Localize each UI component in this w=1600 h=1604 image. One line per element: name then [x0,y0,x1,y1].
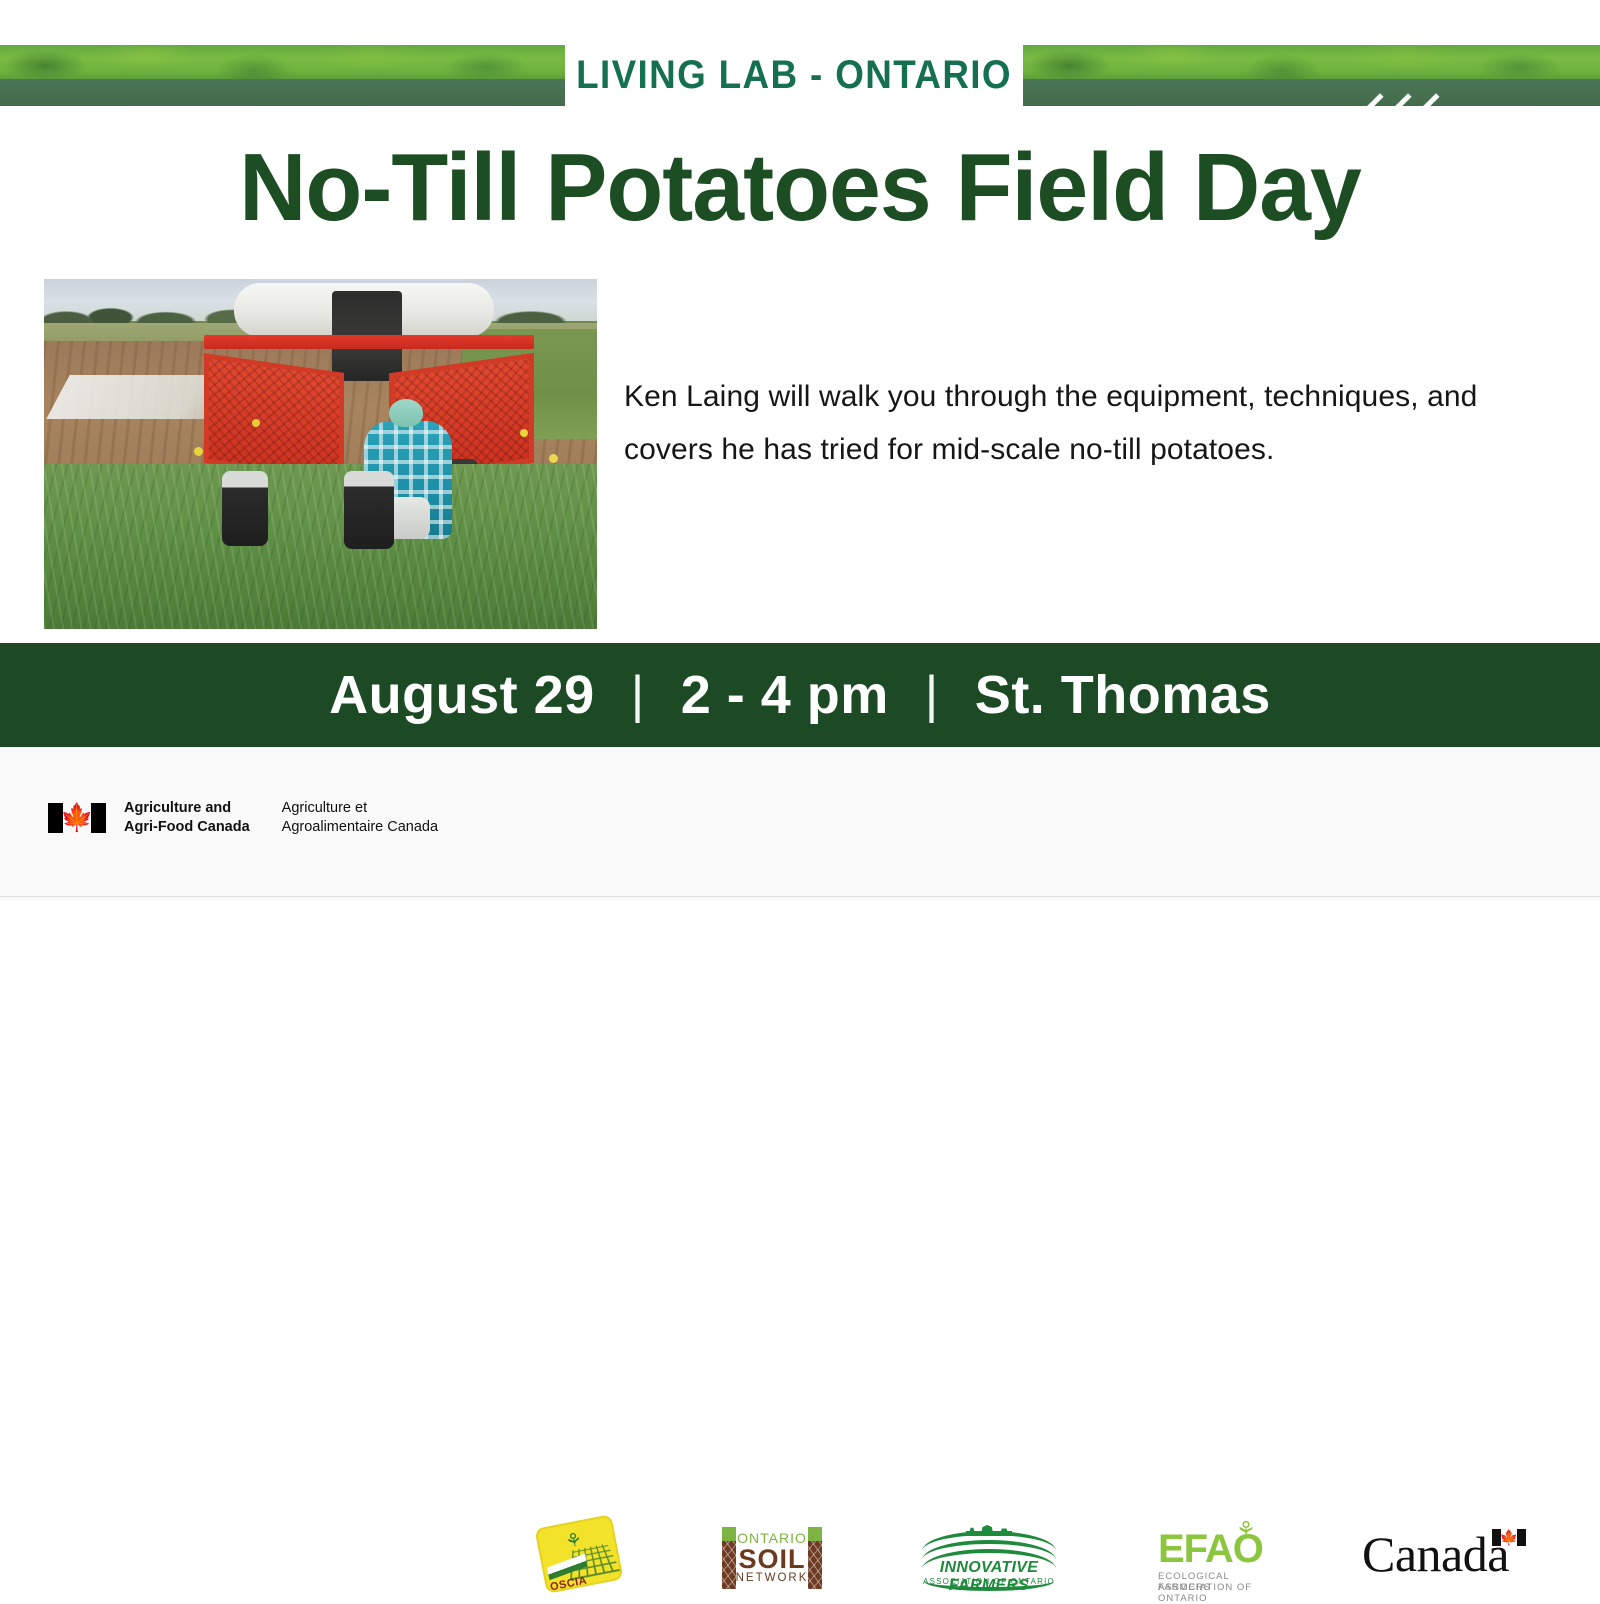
logo-efao: EFAO ⚘ ECOLOGICAL FARMERS ASSOCIATION OF… [1158,1523,1278,1591]
banner-grass-texture-left [0,45,565,79]
osn-topsoil-band [722,1527,736,1541]
chevron-left-icon [1393,94,1413,122]
program-banner: LIVING LAB - ONTARIO [0,45,1600,106]
aafc-en-line2: Agri-Food Canada [124,818,250,837]
photo-planter-wheel-left [222,471,268,546]
osn-topsoil-band [808,1527,822,1541]
flag-bar-right [1517,1529,1526,1546]
chevron-left-icon [1421,94,1441,122]
event-time: 2 - 4 pm [651,664,919,726]
photo-flower [252,419,260,427]
efao-line2: ASSOCIATION OF ONTARIO [1158,1582,1278,1604]
banner-band-left [0,45,565,106]
details-separator: | [625,665,651,725]
event-date: August 29 [299,664,625,726]
osn-line-ontario: ONTARIO [737,1531,807,1545]
photo-cover-crop [44,464,597,629]
photo-mesh-texture [209,359,339,477]
aafc-wordmark-fr: Agriculture et Agroalimentaire Canada [282,799,438,836]
aafc-fr-line2: Agroalimentaire Canada [282,818,438,837]
photo-operator-head [389,399,423,427]
chevron-group [1365,92,1475,124]
banner-sod-texture-right [1023,79,1600,106]
photo-flower [194,447,203,456]
ifao-farm-silhouette-icon [966,1525,1012,1536]
page-title: No-Till Potatoes Field Day [24,140,1576,236]
maple-leaf-icon: 🍁 [60,804,94,831]
banner-sod-texture-left [0,79,565,106]
program-title: LIVING LAB - ONTARIO [583,45,1004,106]
photo-planter-wheel-right [344,471,394,549]
efao-sprout-icon: ⚘ [1236,1519,1256,1541]
aafc-wordmark-en: Agriculture and Agri-Food Canada [124,799,250,836]
canada-flag-icon: 🍁 [1492,1529,1526,1546]
osn-soil-profile-right-icon [808,1527,822,1589]
logo-ontario-soil-network: ONTARIO SOIL NETWORK [722,1527,822,1589]
ifao-field-arcs-icon [922,1525,1056,1559]
osn-line-soil: SOIL [738,1545,805,1573]
osn-line-network: NETWORK [736,1573,809,1585]
banner-band-right [1023,45,1600,106]
aafc-en-line1: Agriculture and [124,799,250,818]
chevron-left-icon [1365,94,1385,122]
banner-grass-texture-right [1023,45,1600,79]
photo-planter-toolbar [204,335,534,349]
logo-canada-wordmark: Canada 🍁 [1362,1529,1532,1587]
logo-innovative-farmers: INNOVATIVE FARMERS ASSOCIATION OF ONTARI… [922,1525,1056,1589]
aafc-fr-line1: Agriculture et [282,799,438,818]
oscia-seedling-icon: ⚘ [564,1530,584,1552]
canada-wordmark-text: Canada [1362,1529,1509,1579]
canada-flag-icon: 🍁 [48,803,106,833]
logo-oscia: ⚘ OSCIA [536,1515,620,1589]
poster-root: LIVING LAB - ONTARIO No-Till Potatoes Fi… [0,0,1600,900]
event-details-bar: August 29 | 2 - 4 pm | St. Thomas [0,643,1600,747]
osn-soil-profile-left-icon [722,1527,736,1589]
photo-flower [549,454,558,463]
details-separator: | [919,665,945,725]
partner-logo-strip: 🍁 Agriculture and Agri-Food Canada Agric… [0,747,1600,900]
ifao-subtitle: ASSOCIATION OF ONTARIO [922,1577,1056,1586]
event-location: St. Thomas [945,664,1301,726]
logo-agriculture-agri-food-canada: 🍁 Agriculture and Agri-Food Canada Agric… [48,799,438,836]
event-description: Ken Laing will walk you through the equi… [624,370,1514,477]
field-photo [44,279,597,629]
maple-leaf-icon: 🍁 [1500,1530,1519,1545]
photo-flower [520,429,528,437]
